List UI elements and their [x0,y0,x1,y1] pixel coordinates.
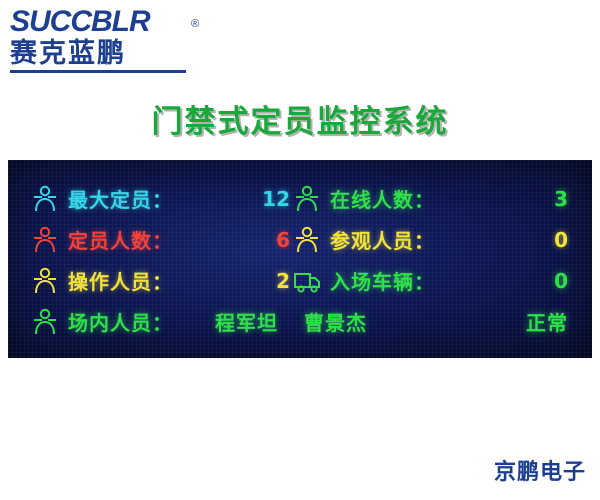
stat-cell-max-capacity: 最大定员： 12 [32,178,294,219]
logo-text-chinese: 赛克蓝鹏 [10,39,225,69]
person-icon [32,226,58,254]
stat-cell-onsite-personnel: 场内人员： 程军坦 曹景杰 正常 [32,301,572,342]
onsite-personnel-list: 程军坦 曹景杰 [215,307,367,336]
stat-cell-operators: 操作人员： 2 [32,260,294,301]
person-icon [32,185,58,213]
page-title: 门禁式定员监控系统 [0,96,600,141]
truck-icon [294,267,320,295]
registered-trademark-icon: ® [191,8,198,40]
stat-value: 12 [262,187,294,211]
stat-label: 参观人员： [330,225,435,254]
stat-value: 0 [554,228,572,252]
led-display-panel: 最大定员： 12 在线人数： 3 定员人数： 6 [8,160,592,358]
stat-cell-required-staff: 定员人数： 6 [32,219,294,260]
footer-company-name: 京鹏电子 [494,454,586,486]
list-item: 程军坦 [215,307,278,336]
stat-label: 场内人员： [68,307,173,336]
stat-label: 入场车辆： [330,266,435,295]
status-badge: 正常 [526,307,572,336]
stat-value: 3 [554,187,572,211]
stat-value: 6 [276,228,294,252]
person-icon [32,308,58,336]
stat-value: 2 [276,269,294,293]
person-icon [294,226,320,254]
stat-value: 0 [554,269,572,293]
led-content-grid: 最大定员： 12 在线人数： 3 定员人数： 6 [32,178,572,343]
stat-cell-online-count: 在线人数： 3 [294,178,572,219]
logo-text-english: SUCCBLR ® [10,6,150,38]
stat-cell-visitors: 参观人员： 0 [294,219,572,260]
stat-label: 最大定员： [68,184,173,213]
company-logo: SUCCBLR ® 赛克蓝鹏 [10,6,225,70]
stat-label: 操作人员： [68,266,173,295]
stat-label: 定员人数： [68,225,173,254]
person-icon [294,185,320,213]
stat-cell-vehicles: 入场车辆： 0 [294,260,572,301]
person-icon [32,267,58,295]
logo-english-label: SUCCBLR [10,5,150,38]
stat-label: 在线人数： [330,184,435,213]
logo-underline [10,70,186,73]
list-item: 曹景杰 [304,307,367,336]
